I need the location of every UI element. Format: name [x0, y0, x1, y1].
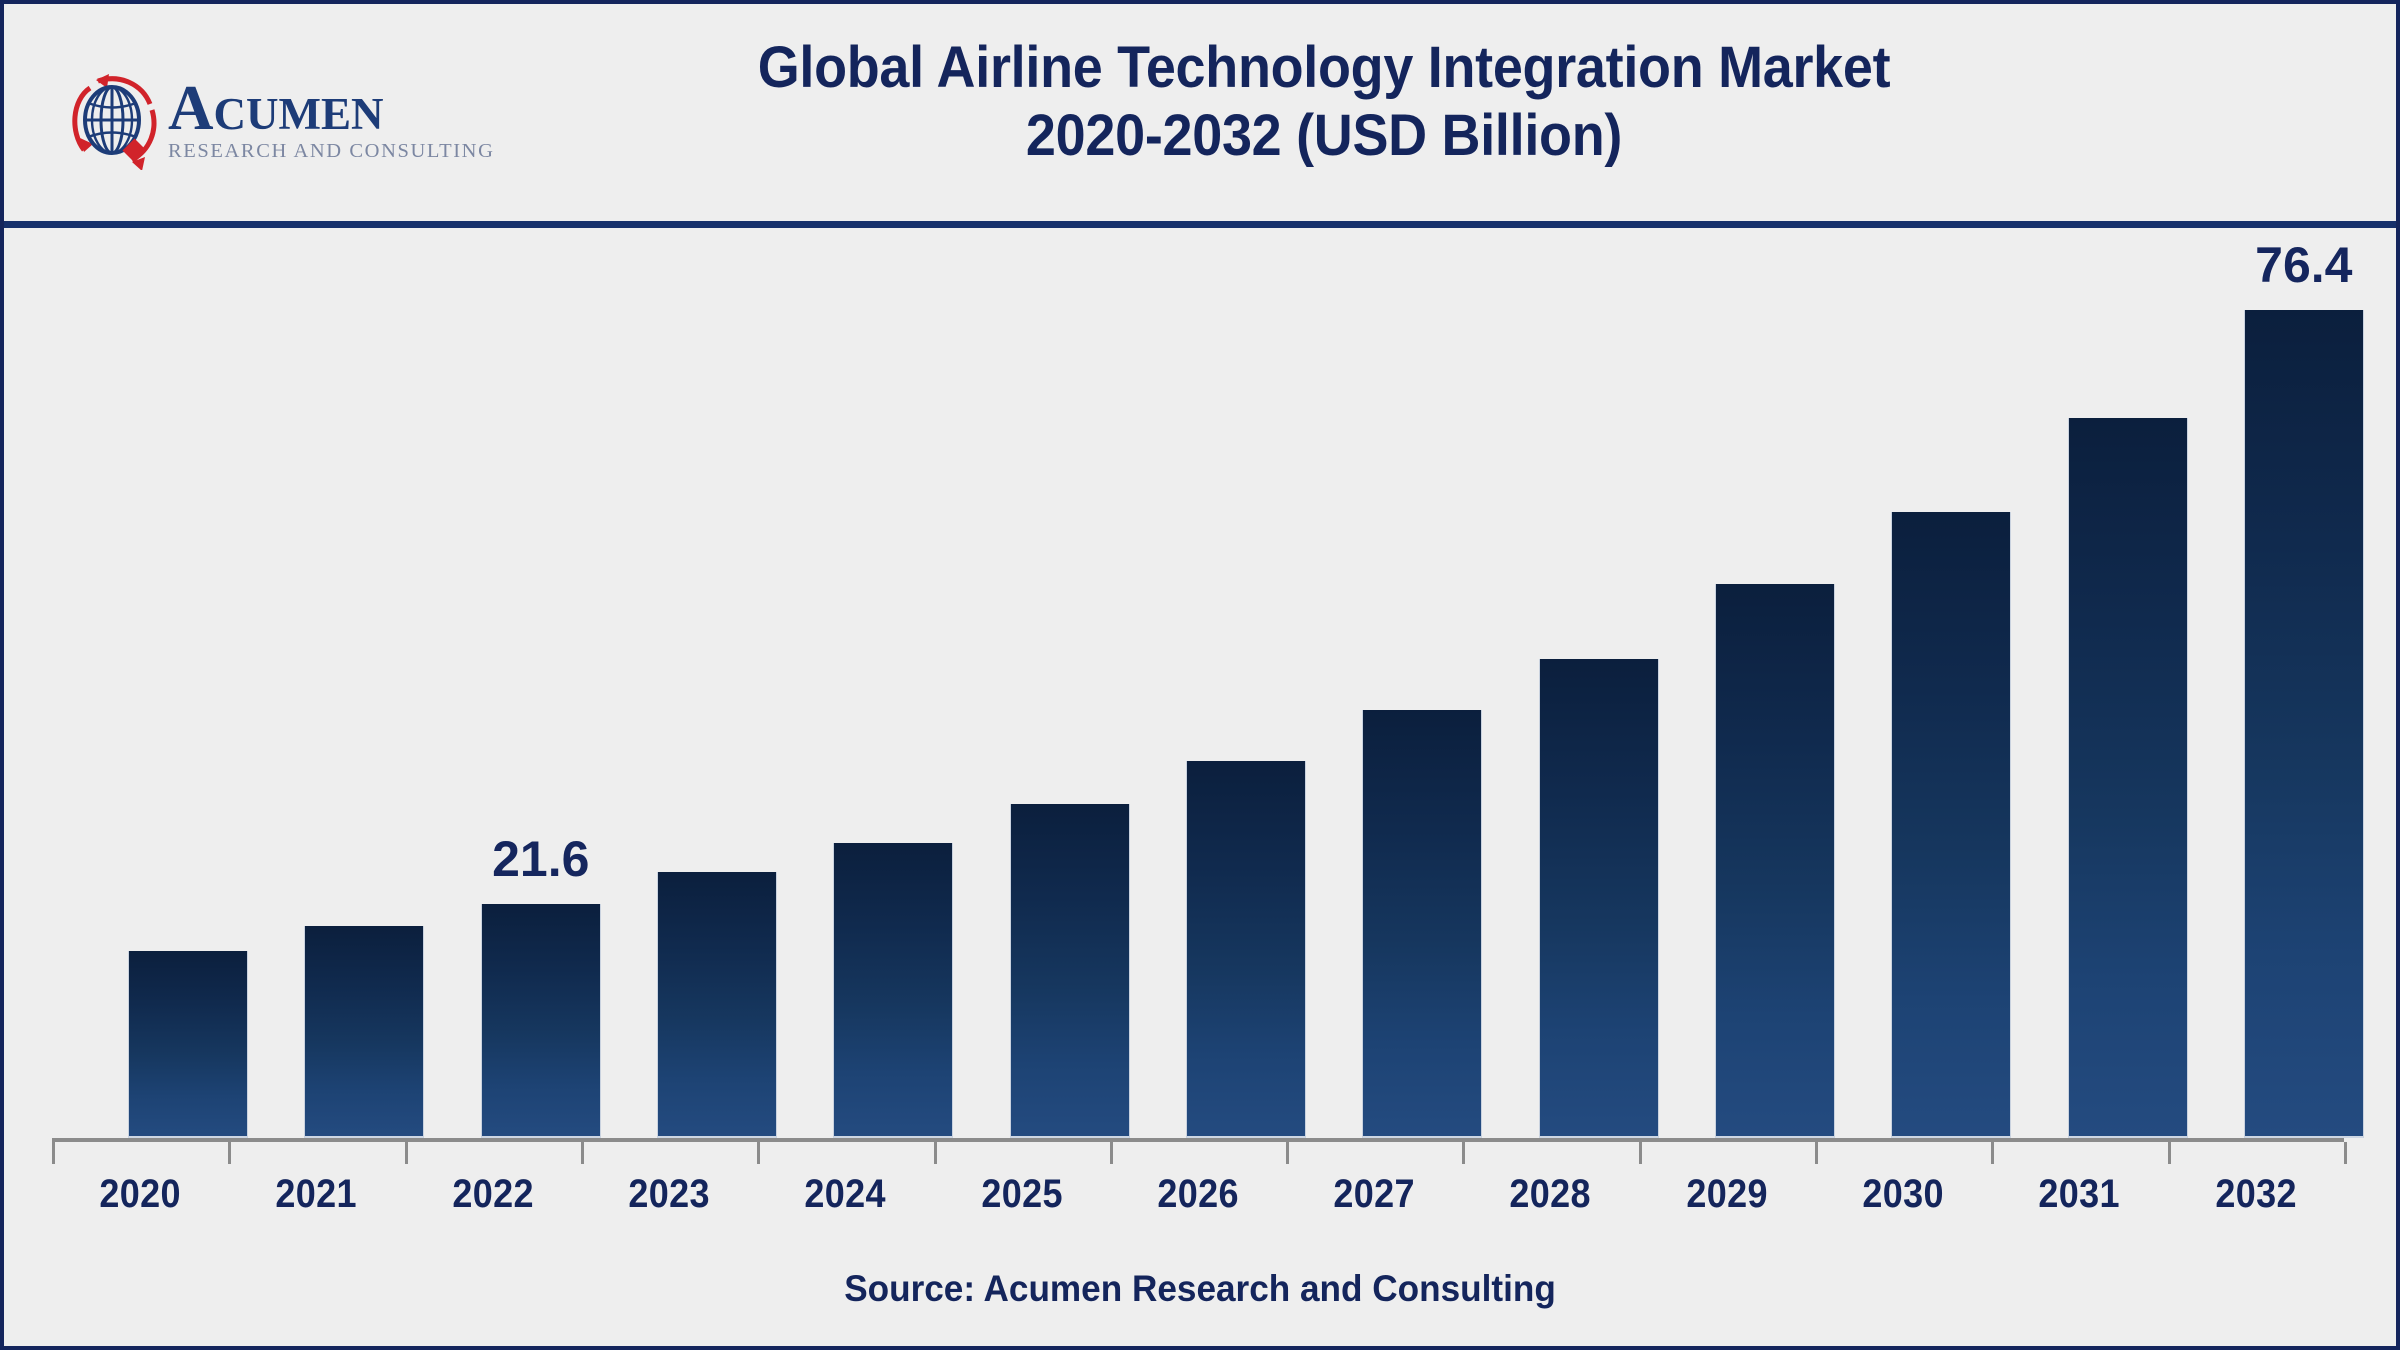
bar-2032	[2245, 310, 2363, 1138]
tick-2030	[1815, 1142, 1818, 1164]
tick-end	[2344, 1142, 2347, 1164]
x-label-2031: 2031	[2000, 1172, 2159, 1217]
x-label-2025: 2025	[942, 1172, 1101, 1217]
x-axis-labels: 2020202120222023202420252026202720282029…	[52, 1172, 2344, 1232]
x-label-2032: 2032	[2177, 1172, 2336, 1217]
x-label-2030: 2030	[1824, 1172, 1983, 1217]
bar-2021	[305, 926, 423, 1138]
tick-2024	[757, 1142, 760, 1164]
tick-2031	[1991, 1142, 1994, 1164]
tick-2026	[1110, 1142, 1113, 1164]
tick-2027	[1286, 1142, 1289, 1164]
bar-2027	[1363, 710, 1481, 1138]
bar-chart: 21.676.4 2020202120222023202420252026202…	[4, 228, 2396, 1346]
x-label-2027: 2027	[1295, 1172, 1454, 1217]
tick-2022	[405, 1142, 408, 1164]
x-axis-ticks	[52, 1142, 2344, 1164]
page-title-line-2: 2020-2032 (USD Billion)	[534, 102, 2115, 170]
tick-2025	[934, 1142, 937, 1164]
tick-2020	[52, 1142, 55, 1164]
bar-2023	[658, 872, 776, 1139]
bar-2022	[482, 904, 600, 1138]
bar-2029	[1716, 584, 1834, 1138]
globe-with-orbit-arrows-icon	[66, 70, 164, 170]
logo-tagline: RESEARCH AND CONSULTING	[168, 141, 495, 162]
source-caption: Source: Acumen Research and Consulting	[64, 1268, 2336, 1310]
x-label-2020: 2020	[61, 1172, 220, 1217]
bar-2026	[1187, 761, 1305, 1138]
bar-2024	[834, 843, 952, 1138]
x-label-2022: 2022	[413, 1172, 572, 1217]
x-label-2021: 2021	[237, 1172, 396, 1217]
bar-2030	[1892, 512, 2010, 1138]
x-label-2024: 2024	[766, 1172, 925, 1217]
tick-2032	[2168, 1142, 2171, 1164]
bar-2028	[1540, 659, 1658, 1138]
value-label-2032: 76.4	[2194, 236, 2400, 294]
bar-2025	[1011, 804, 1129, 1138]
page-title: Global Airline Technology Integration Ma…	[534, 34, 2115, 171]
x-label-2028: 2028	[1471, 1172, 1630, 1217]
x-label-2023: 2023	[590, 1172, 749, 1217]
value-label-2022: 21.6	[431, 830, 651, 888]
x-label-2026: 2026	[1119, 1172, 1278, 1217]
bar-2020	[129, 951, 247, 1138]
logo-wordmark: ACUMEN RESEARCH AND CONSULTING	[168, 79, 495, 161]
header: ACUMEN RESEARCH AND CONSULTING Global Ai…	[4, 4, 2396, 228]
bar-series: 21.676.4	[52, 228, 2352, 1138]
tick-2021	[228, 1142, 231, 1164]
page-title-line-1: Global Airline Technology Integration Ma…	[758, 35, 1891, 100]
logo-acumen-text: ACUMEN	[168, 79, 383, 139]
acumen-logo: ACUMEN RESEARCH AND CONSULTING	[66, 66, 466, 174]
chart-infographic: ACUMEN RESEARCH AND CONSULTING Global Ai…	[0, 0, 2400, 1350]
x-label-2029: 2029	[1648, 1172, 1807, 1217]
bar-2031	[2069, 418, 2187, 1138]
tick-2029	[1639, 1142, 1642, 1164]
tick-2028	[1462, 1142, 1465, 1164]
plot-area: 21.676.4	[52, 228, 2352, 1138]
tick-2023	[581, 1142, 584, 1164]
